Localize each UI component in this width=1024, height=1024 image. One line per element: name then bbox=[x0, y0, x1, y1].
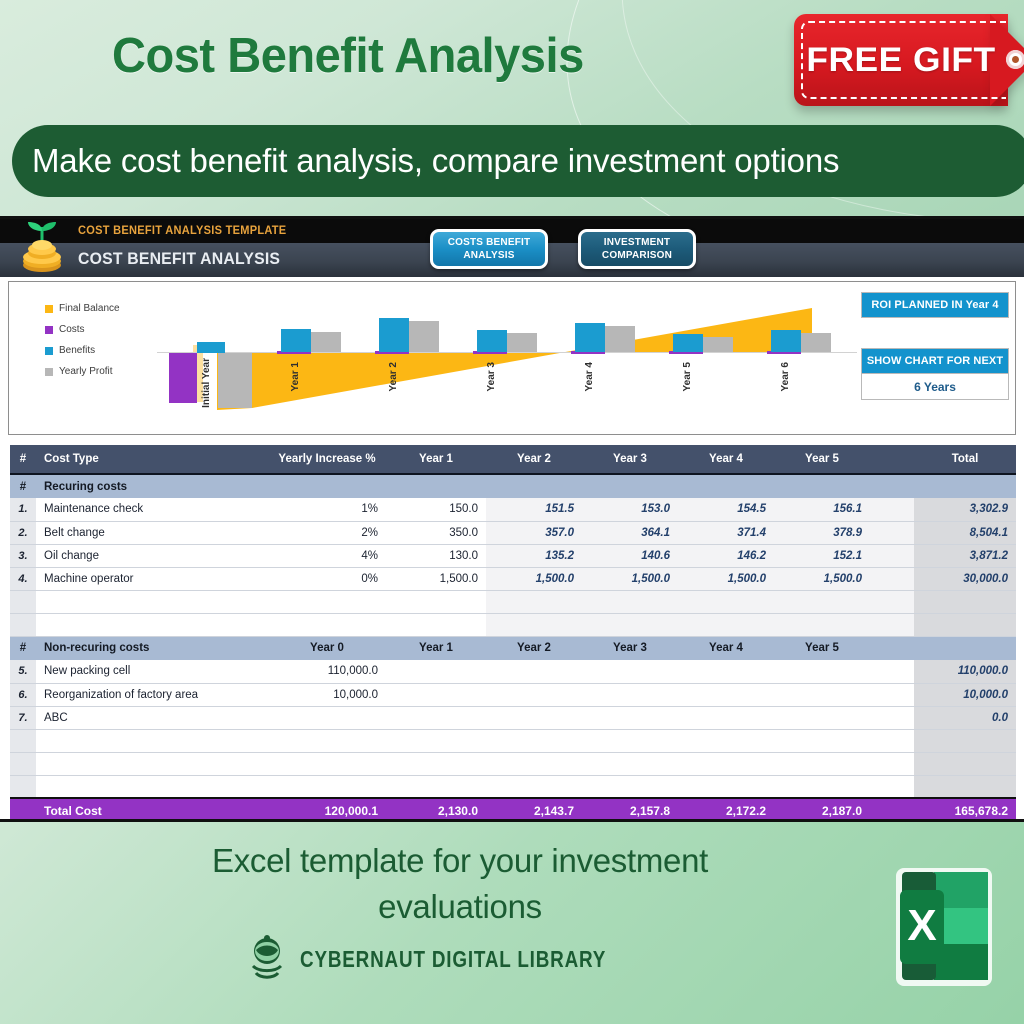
section-recurring-c4 bbox=[582, 474, 678, 498]
section-recurring-c8 bbox=[914, 474, 1016, 498]
promo-banner: Cost Benefit Analysis FREE GIFT Make cos… bbox=[0, 0, 1024, 216]
tick-label-year-1: Year 1 bbox=[290, 362, 301, 391]
row-gap bbox=[870, 590, 914, 613]
row-year-2: 357.0 bbox=[486, 521, 582, 544]
row-gap bbox=[870, 729, 914, 752]
show-chart-for-next-label: SHOW CHART FOR NEXT bbox=[861, 348, 1009, 374]
section-nonrecurring-label: Non-recuring costs bbox=[36, 636, 268, 660]
col-header-yearly-increase: Yearly Increase % bbox=[268, 445, 386, 474]
row-year-4 bbox=[678, 729, 774, 752]
row-total: 3,871.2 bbox=[914, 544, 1016, 567]
row-num: 6. bbox=[10, 683, 36, 706]
row-total bbox=[914, 613, 1016, 636]
row-year-3: 1,500.0 bbox=[582, 567, 678, 590]
row-year-0 bbox=[268, 752, 386, 775]
bar-profit-year1 bbox=[311, 332, 341, 352]
row-year-3: 364.1 bbox=[582, 521, 678, 544]
row-total: 110,000.0 bbox=[914, 660, 1016, 683]
table-row[interactable]: 7. ABC 0.0 bbox=[10, 706, 1016, 729]
legend-item-benefits: Benefits bbox=[45, 340, 120, 361]
col-header-year-3: Year 3 bbox=[582, 445, 678, 474]
table-row[interactable]: 5. New packing cell 110,000.0 110,000.0 bbox=[10, 660, 1016, 683]
bar-profit-initial bbox=[218, 353, 252, 408]
bar-benefits-year2 bbox=[379, 318, 409, 352]
row-year-5: 152.1 bbox=[774, 544, 870, 567]
tab-costs-benefit-analysis[interactable]: COSTS BENEFIT ANALYSIS bbox=[430, 229, 548, 269]
total-row-label: Total Cost bbox=[36, 798, 268, 822]
section-nonrecurring-num: # bbox=[10, 636, 36, 660]
col-header-total: Total bbox=[914, 445, 1016, 474]
row-total: 30,000.0 bbox=[914, 567, 1016, 590]
row-year-1 bbox=[386, 590, 486, 613]
total-row-gap bbox=[870, 798, 914, 822]
row-year-1 bbox=[386, 775, 486, 798]
row-num: 7. bbox=[10, 706, 36, 729]
col-header-year-5: Year 5 bbox=[774, 445, 870, 474]
footer-banner: Excel template for your investment evalu… bbox=[0, 822, 1024, 1024]
bar-profit-year6 bbox=[801, 333, 831, 352]
row-gap bbox=[870, 498, 914, 521]
row-total bbox=[914, 752, 1016, 775]
col-header-year-1: Year 1 bbox=[386, 445, 486, 474]
bar-profit-year3 bbox=[507, 333, 537, 352]
section-recurring-c6 bbox=[774, 474, 870, 498]
bar-costs-initial bbox=[169, 353, 197, 403]
section-recurring-c3 bbox=[486, 474, 582, 498]
row-year-2 bbox=[486, 729, 582, 752]
row-year-5 bbox=[774, 683, 870, 706]
row-year-5 bbox=[774, 590, 870, 613]
total-row-year-0: 120,000.1 bbox=[268, 798, 386, 822]
sheet-title: COST BENEFIT ANALYSIS bbox=[78, 249, 280, 269]
bar-benefits-initial bbox=[197, 342, 225, 353]
page-title: Cost Benefit Analysis bbox=[112, 28, 584, 84]
table-row-empty[interactable] bbox=[10, 613, 1016, 636]
col-header-cost-type: Cost Type bbox=[36, 445, 268, 474]
row-year-2: 1,500.0 bbox=[486, 567, 582, 590]
row-total bbox=[914, 590, 1016, 613]
bar-profit-year4 bbox=[605, 326, 635, 352]
row-num: 1. bbox=[10, 498, 36, 521]
legend-item-final-balance: Final Balance bbox=[45, 298, 120, 319]
row-year-1 bbox=[386, 683, 486, 706]
row-year-4 bbox=[678, 752, 774, 775]
row-year-1 bbox=[386, 729, 486, 752]
row-year-1: 1,500.0 bbox=[386, 567, 486, 590]
bar-benefits-year4 bbox=[575, 323, 605, 352]
total-cost-row: Total Cost 120,000.1 2,130.0 2,143.7 2,1… bbox=[10, 798, 1016, 822]
bar-benefits-year5 bbox=[673, 334, 703, 352]
row-year-4: 146.2 bbox=[678, 544, 774, 567]
tick-label-initial-year: Initial Year bbox=[201, 358, 212, 408]
tick-label-year-2: Year 2 bbox=[388, 362, 399, 391]
chart-axis-line bbox=[157, 352, 857, 353]
section-nonrecurring-year-4: Year 4 bbox=[678, 636, 774, 660]
bar-benefits-year1 bbox=[281, 329, 311, 352]
col-header-year-2: Year 2 bbox=[486, 445, 582, 474]
row-num: 2. bbox=[10, 521, 36, 544]
row-num: 3. bbox=[10, 544, 36, 567]
row-name: ABC bbox=[36, 706, 268, 729]
row-year-4 bbox=[678, 706, 774, 729]
section-recurring-c5 bbox=[678, 474, 774, 498]
legend-swatch-yearly-profit bbox=[45, 368, 53, 376]
bar-benefits-year6 bbox=[771, 330, 801, 352]
row-name: Oil change bbox=[36, 544, 268, 567]
row-year-1: 130.0 bbox=[386, 544, 486, 567]
row-year-2 bbox=[486, 775, 582, 798]
row-gap bbox=[870, 567, 914, 590]
section-nonrecurring-year-5: Year 5 bbox=[774, 636, 870, 660]
row-year-0 bbox=[268, 775, 386, 798]
row-gap bbox=[870, 521, 914, 544]
promo-subtitle: Make cost benefit analysis, compare inve… bbox=[12, 142, 839, 180]
brand-name: CYBERNAUT DIGITAL LIBRARY bbox=[300, 946, 606, 973]
row-num bbox=[10, 752, 36, 775]
legend-item-costs: Costs bbox=[45, 319, 120, 340]
chart-panel: Final Balance Costs Benefits Yearly Prof… bbox=[8, 281, 1016, 435]
section-recurring-c1 bbox=[268, 474, 386, 498]
section-row-nonrecurring: # Non-recuring costs Year 0 Year 1 Year … bbox=[10, 636, 1016, 660]
row-yearly-increase bbox=[268, 590, 386, 613]
table-row-empty[interactable] bbox=[10, 752, 1016, 775]
years-input[interactable]: 6 Years bbox=[861, 374, 1009, 400]
free-gift-badge: FREE GIFT bbox=[794, 14, 1024, 106]
legend-label-benefits: Benefits bbox=[59, 345, 95, 356]
row-year-4: 1,500.0 bbox=[678, 567, 774, 590]
row-name bbox=[36, 752, 268, 775]
legend-label-yearly-profit: Yearly Profit bbox=[59, 366, 113, 377]
row-name: Belt change bbox=[36, 521, 268, 544]
tick-label-year-4: Year 4 bbox=[584, 362, 595, 391]
row-name: Machine operator bbox=[36, 567, 268, 590]
row-total: 10,000.0 bbox=[914, 683, 1016, 706]
row-name: Reorganization of factory area bbox=[36, 683, 268, 706]
total-row-year-4: 2,172.2 bbox=[678, 798, 774, 822]
row-year-3 bbox=[582, 752, 678, 775]
total-row-total: 165,678.2 bbox=[914, 798, 1016, 822]
table-header-row: # Cost Type Yearly Increase % Year 1 Yea… bbox=[10, 445, 1016, 474]
section-recurring-num: # bbox=[10, 474, 36, 498]
col-header-gap bbox=[870, 445, 914, 474]
row-year-4 bbox=[678, 590, 774, 613]
tick-label-year-3: Year 3 bbox=[486, 362, 497, 391]
table-row[interactable]: 6. Reorganization of factory area 10,000… bbox=[10, 683, 1016, 706]
legend-label-final-balance: Final Balance bbox=[59, 303, 120, 314]
tab-costs-benefit-analysis-line1: COSTS BENEFIT bbox=[448, 236, 531, 249]
total-row-year-2: 2,143.7 bbox=[486, 798, 582, 822]
row-gap bbox=[870, 752, 914, 775]
row-year-5 bbox=[774, 752, 870, 775]
row-year-1: 350.0 bbox=[386, 521, 486, 544]
section-nonrecurring-year-0: Year 0 bbox=[268, 636, 386, 660]
row-name bbox=[36, 613, 268, 636]
row-year-1 bbox=[386, 660, 486, 683]
row-year-0: 10,000.0 bbox=[268, 683, 386, 706]
bar-profit-year2 bbox=[409, 321, 439, 352]
excel-header-bar: COST BENEFIT ANALYSIS TEMPLATE COST BENE… bbox=[0, 219, 1024, 277]
row-name bbox=[36, 729, 268, 752]
row-year-3 bbox=[582, 683, 678, 706]
row-gap bbox=[870, 660, 914, 683]
template-label: COST BENEFIT ANALYSIS TEMPLATE bbox=[78, 223, 286, 237]
row-year-4: 371.4 bbox=[678, 521, 774, 544]
row-year-1 bbox=[386, 752, 486, 775]
legend-swatch-costs bbox=[45, 326, 53, 334]
row-year-2 bbox=[486, 590, 582, 613]
footer-tagline: Excel template for your investment evalu… bbox=[60, 838, 860, 930]
total-row-year-1: 2,130.0 bbox=[386, 798, 486, 822]
row-name: Maintenance check bbox=[36, 498, 268, 521]
row-year-1 bbox=[386, 706, 486, 729]
tab-investment-comparison[interactable]: INVESTMENT COMPARISON bbox=[578, 229, 696, 269]
row-gap bbox=[870, 613, 914, 636]
total-row-year-5: 2,187.0 bbox=[774, 798, 870, 822]
row-year-1 bbox=[386, 613, 486, 636]
row-year-5 bbox=[774, 775, 870, 798]
cybernaut-helmet-icon bbox=[246, 934, 288, 985]
row-year-2 bbox=[486, 752, 582, 775]
row-total bbox=[914, 729, 1016, 752]
row-total: 8,504.1 bbox=[914, 521, 1016, 544]
row-gap bbox=[870, 544, 914, 567]
table-row[interactable]: 4. Machine operator 0% 1,500.0 1,500.0 1… bbox=[10, 567, 1016, 590]
row-year-3 bbox=[582, 775, 678, 798]
row-year-3 bbox=[582, 660, 678, 683]
tab-investment-comparison-line2: COMPARISON bbox=[602, 249, 672, 262]
row-year-4 bbox=[678, 613, 774, 636]
section-recurring-c2 bbox=[386, 474, 486, 498]
brand-lockup: CYBERNAUT DIGITAL LIBRARY bbox=[60, 934, 860, 985]
row-num bbox=[10, 775, 36, 798]
section-nonrecurring-total bbox=[914, 636, 1016, 660]
row-name: New packing cell bbox=[36, 660, 268, 683]
bar-profit-year5 bbox=[703, 337, 733, 352]
row-year-0: 110,000.0 bbox=[268, 660, 386, 683]
row-year-2 bbox=[486, 706, 582, 729]
legend-swatch-benefits bbox=[45, 347, 53, 355]
tick-label-year-5: Year 5 bbox=[682, 362, 693, 391]
total-row-num bbox=[10, 798, 36, 822]
row-year-2 bbox=[486, 660, 582, 683]
row-year-5 bbox=[774, 706, 870, 729]
promo-subtitle-pill: Make cost benefit analysis, compare inve… bbox=[12, 125, 1024, 197]
row-yearly-increase: 1% bbox=[268, 498, 386, 521]
chart-plot-area: Initial Year Year 1 Year 2 Year 3 Year 4 bbox=[157, 290, 857, 430]
row-year-5: 156.1 bbox=[774, 498, 870, 521]
row-year-5 bbox=[774, 613, 870, 636]
bar-benefits-year3 bbox=[477, 330, 507, 352]
row-year-3 bbox=[582, 729, 678, 752]
roi-planned-badge[interactable]: ROI PLANNED IN Year 4 bbox=[861, 292, 1009, 318]
section-recurring-label: Recuring costs bbox=[36, 474, 268, 498]
row-year-2 bbox=[486, 683, 582, 706]
col-header-year-4: Year 4 bbox=[678, 445, 774, 474]
row-total: 3,302.9 bbox=[914, 498, 1016, 521]
legend-swatch-final-balance bbox=[45, 305, 53, 313]
row-year-3 bbox=[582, 613, 678, 636]
row-year-4 bbox=[678, 775, 774, 798]
svg-text:X: X bbox=[907, 901, 936, 950]
section-nonrecurring-year-1: Year 1 bbox=[386, 636, 486, 660]
row-num: 5. bbox=[10, 660, 36, 683]
row-yearly-increase: 4% bbox=[268, 544, 386, 567]
row-num bbox=[10, 590, 36, 613]
row-year-0 bbox=[268, 729, 386, 752]
row-year-5: 378.9 bbox=[774, 521, 870, 544]
row-yearly-increase: 2% bbox=[268, 521, 386, 544]
table-row[interactable]: 1. Maintenance check 1% 150.0 151.5 153.… bbox=[10, 498, 1016, 521]
footer-tagline-line1: Excel template for your investment bbox=[60, 838, 860, 884]
table-row[interactable]: 2. Belt change 2% 350.0 357.0 364.1 371.… bbox=[10, 521, 1016, 544]
section-recurring-c7 bbox=[870, 474, 914, 498]
legend-item-yearly-profit: Yearly Profit bbox=[45, 361, 120, 382]
table-row-empty[interactable] bbox=[10, 729, 1016, 752]
table-row-empty[interactable] bbox=[10, 590, 1016, 613]
table-row[interactable]: 3. Oil change 4% 130.0 135.2 140.6 146.2… bbox=[10, 544, 1016, 567]
coins-plant-icon bbox=[16, 221, 68, 275]
row-year-3 bbox=[582, 706, 678, 729]
row-num: 4. bbox=[10, 567, 36, 590]
row-yearly-increase: 0% bbox=[268, 567, 386, 590]
chart-legend: Final Balance Costs Benefits Yearly Prof… bbox=[45, 298, 120, 382]
row-year-2 bbox=[486, 613, 582, 636]
table-row-empty[interactable] bbox=[10, 775, 1016, 798]
row-year-1: 150.0 bbox=[386, 498, 486, 521]
total-row-year-3: 2,157.8 bbox=[582, 798, 678, 822]
row-year-5: 1,500.0 bbox=[774, 567, 870, 590]
tick-label-year-6: Year 6 bbox=[780, 362, 791, 391]
row-num bbox=[10, 729, 36, 752]
row-name bbox=[36, 775, 268, 798]
section-nonrecurring-year-2: Year 2 bbox=[486, 636, 582, 660]
row-gap bbox=[870, 775, 914, 798]
tab-investment-comparison-line1: INVESTMENT bbox=[604, 236, 670, 249]
row-year-0 bbox=[268, 706, 386, 729]
row-year-3: 140.6 bbox=[582, 544, 678, 567]
free-gift-label: FREE GIFT bbox=[790, 14, 1013, 106]
row-year-4 bbox=[678, 683, 774, 706]
row-year-3: 153.0 bbox=[582, 498, 678, 521]
row-year-4 bbox=[678, 660, 774, 683]
row-year-2: 151.5 bbox=[486, 498, 582, 521]
excel-screenshot: COST BENEFIT ANALYSIS TEMPLATE COST BENE… bbox=[0, 216, 1024, 822]
row-total: 0.0 bbox=[914, 706, 1016, 729]
row-year-4: 154.5 bbox=[678, 498, 774, 521]
row-num bbox=[10, 613, 36, 636]
row-year-3 bbox=[582, 590, 678, 613]
row-gap bbox=[870, 706, 914, 729]
row-year-5 bbox=[774, 729, 870, 752]
final-balance-area bbox=[157, 290, 857, 430]
section-nonrecurring-gap bbox=[870, 636, 914, 660]
tab-costs-benefit-analysis-line2: ANALYSIS bbox=[463, 249, 514, 262]
col-header-num: # bbox=[10, 445, 36, 474]
row-total bbox=[914, 775, 1016, 798]
cost-table: # Cost Type Yearly Increase % Year 1 Yea… bbox=[10, 445, 1016, 822]
footer-tagline-line2: evaluations bbox=[60, 884, 860, 930]
section-nonrecurring-year-3: Year 3 bbox=[582, 636, 678, 660]
row-year-2: 135.2 bbox=[486, 544, 582, 567]
chart-side-controls: ROI PLANNED IN Year 4 SHOW CHART FOR NEX… bbox=[861, 292, 1009, 400]
row-yearly-increase bbox=[268, 613, 386, 636]
row-year-5 bbox=[774, 660, 870, 683]
row-name bbox=[36, 590, 268, 613]
section-row-recurring: # Recuring costs bbox=[10, 474, 1016, 498]
row-gap bbox=[870, 683, 914, 706]
legend-label-costs: Costs bbox=[59, 324, 85, 335]
excel-x-icon: X bbox=[890, 862, 998, 992]
